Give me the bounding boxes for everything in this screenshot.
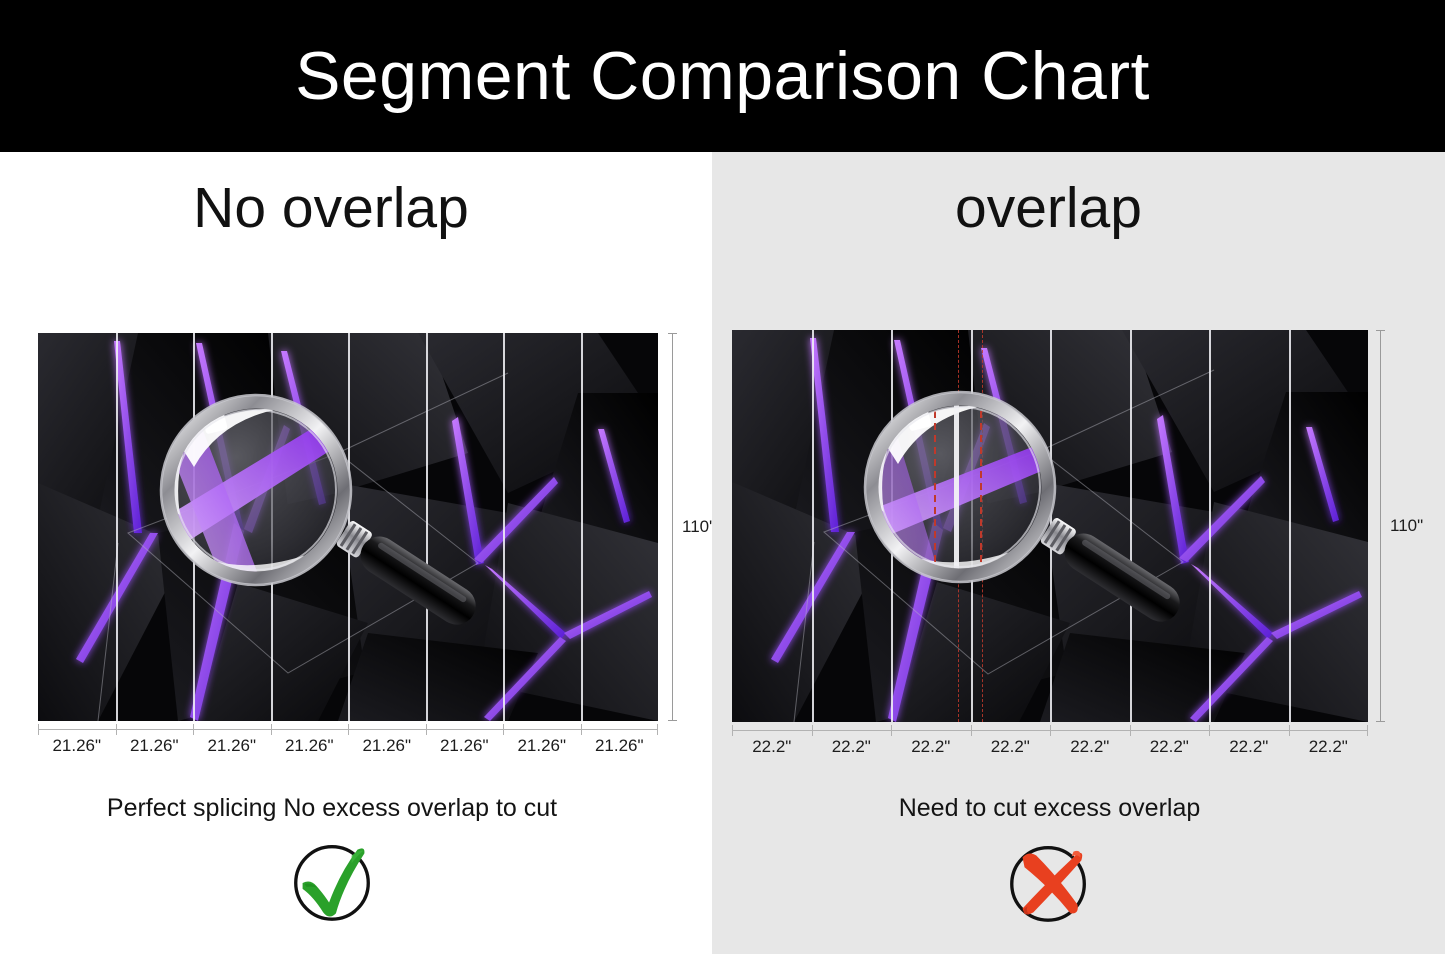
artwork-overlap: 110" 22.2" 22.2" 22.2" 22.2" 22.2" xyxy=(732,330,1368,722)
dim-line xyxy=(1380,330,1381,722)
segment-width-label: 21.26" xyxy=(348,736,426,756)
segment-width-label: 21.26" xyxy=(193,736,271,756)
segment-width-label: 21.26" xyxy=(271,736,349,756)
segment-width-label: 22.2" xyxy=(1050,737,1130,757)
panel-overlap: overlap xyxy=(712,152,1445,954)
dim-cap-bottom xyxy=(668,720,677,721)
segment-width-label: 21.26" xyxy=(426,736,504,756)
dim-tick xyxy=(271,724,272,735)
dim-tick xyxy=(581,724,582,735)
segment-width-label: 22.2" xyxy=(1130,737,1210,757)
dim-tick xyxy=(812,725,813,736)
height-label-left: 110" xyxy=(682,517,715,537)
segment-width-label: 22.2" xyxy=(732,737,812,757)
dim-tick xyxy=(348,724,349,735)
dim-tick xyxy=(971,725,972,736)
cross-mark-icon xyxy=(1001,832,1099,930)
artwork-no-overlap: 110" 21.26" 21.26" 21.26" 21.26" xyxy=(38,333,658,721)
segment-width-label: 22.2" xyxy=(971,737,1051,757)
title-bar: Segment Comparison Chart xyxy=(0,0,1445,152)
dim-tick xyxy=(1289,725,1290,736)
segment-width-label: 21.26" xyxy=(38,736,116,756)
artwork-image-left xyxy=(38,333,658,721)
segment-width-label: 22.2" xyxy=(1209,737,1289,757)
dim-tick xyxy=(732,725,733,736)
dim-tick xyxy=(38,724,39,735)
segment-width-label: 22.2" xyxy=(891,737,971,757)
dim-tick xyxy=(503,724,504,735)
abstract-polygon-graphic-left xyxy=(38,333,658,721)
panel-no-overlap: No overlap xyxy=(0,152,712,954)
dim-cap-bottom xyxy=(1376,721,1385,722)
dim-tick xyxy=(1130,725,1131,736)
dim-tick xyxy=(1050,725,1051,736)
segment-width-label: 21.26" xyxy=(116,736,194,756)
segment-width-label: 21.26" xyxy=(581,736,659,756)
dim-tick xyxy=(116,724,117,735)
dim-tick xyxy=(657,724,658,735)
dim-tick xyxy=(1209,725,1210,736)
caption-no-overlap: Perfect splicing No excess overlap to cu… xyxy=(0,796,712,821)
caption-overlap: Need to cut excess overlap xyxy=(712,796,1445,821)
dim-tick xyxy=(193,724,194,735)
panel-heading-overlap: overlap xyxy=(712,180,1445,237)
artwork-image-right xyxy=(732,330,1368,722)
verdict-no-overlap xyxy=(0,832,712,930)
dim-tick xyxy=(1367,725,1368,736)
panel-heading-no-overlap: No overlap xyxy=(0,180,712,237)
dim-line xyxy=(672,333,673,721)
page-title: Segment Comparison Chart xyxy=(295,42,1150,110)
dim-tick xyxy=(426,724,427,735)
abstract-polygon-graphic-right xyxy=(732,330,1368,722)
comparison-panels: No overlap xyxy=(0,152,1445,954)
dim-tick xyxy=(891,725,892,736)
segment-width-label: 22.2" xyxy=(812,737,892,757)
segment-width-label: 21.26" xyxy=(503,736,581,756)
verdict-overlap xyxy=(712,832,1445,930)
height-label-right: 110" xyxy=(1390,516,1423,536)
check-mark-icon xyxy=(283,832,381,930)
segment-width-label: 22.2" xyxy=(1289,737,1369,757)
